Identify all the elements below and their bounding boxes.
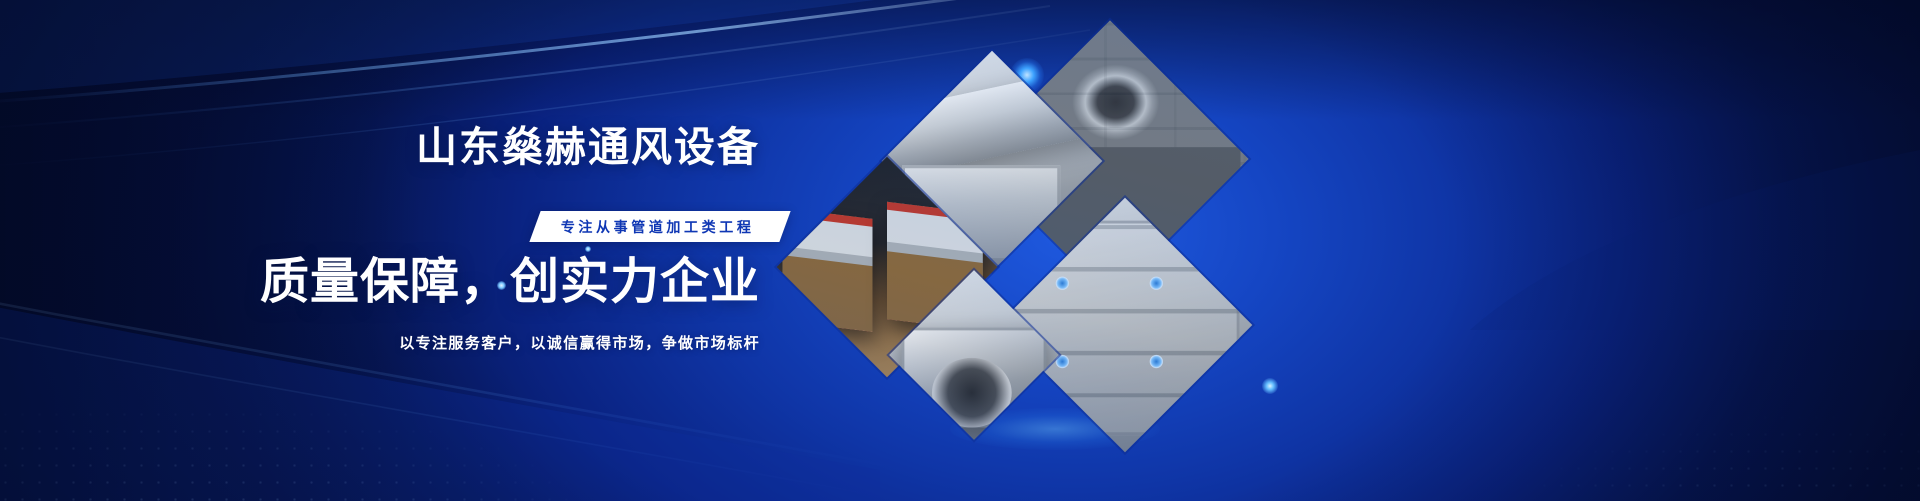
sparkle-icon [497,281,506,290]
specialty-badge: 专注从事管道加工类工程 [530,211,791,242]
hero-copy: 山东燊赫通风设备 专注从事管道加工类工程 质量保障，创实力企业 以专注服务客户，… [0,0,800,501]
company-title: 山东燊赫通风设备 [416,127,760,168]
hero-tagline: 以专注服务客户，以诚信赢得市场，争做市场标杆 [399,332,760,353]
sparkle-icon-small [585,246,591,252]
hero-headline: 质量保障，创实力企业 [260,258,760,307]
hero-banner: 山东燊赫通风设备 专注从事管道加工类工程 质量保障，创实力企业 以专注服务客户，… [0,0,1920,501]
specialty-badge-label: 专注从事管道加工类工程 [561,217,755,237]
diamond-photo-collage [799,37,1233,362]
